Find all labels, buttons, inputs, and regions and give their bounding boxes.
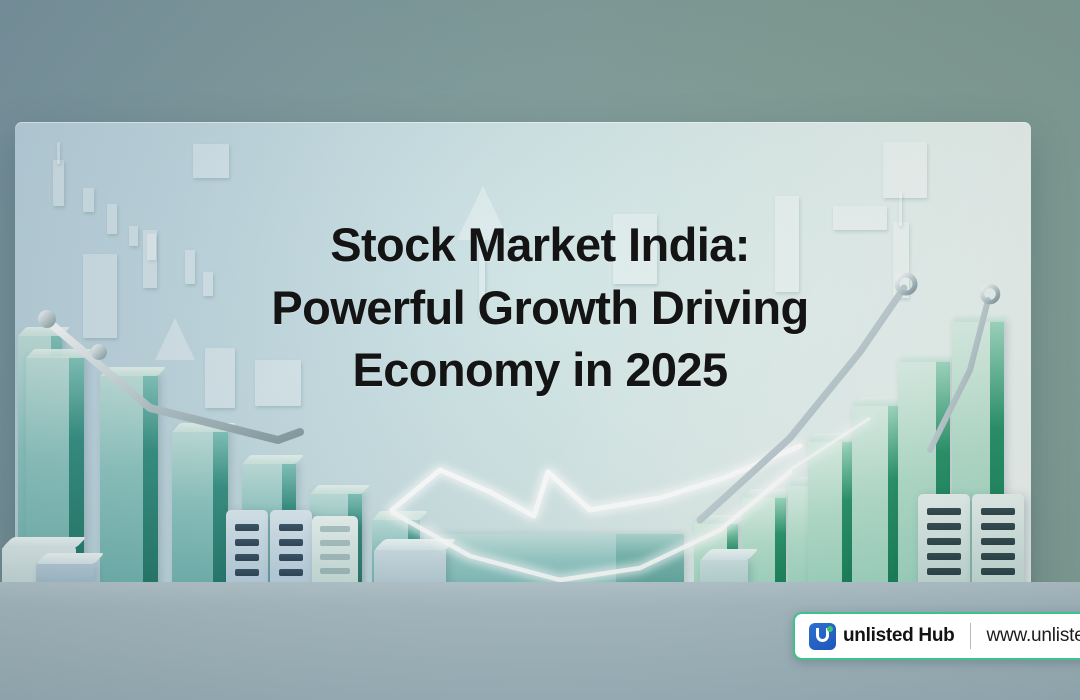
title-line-1: Stock Market India: xyxy=(0,214,1080,277)
bar-right-5 xyxy=(852,404,900,592)
title-line-2: Powerful Growth Driving xyxy=(0,277,1080,340)
brand-url[interactable]: www.unlistedhub xyxy=(986,625,1080,647)
brand-name: unlisted Hub xyxy=(843,625,954,647)
bar-right-4 xyxy=(808,440,854,592)
u-logo-icon xyxy=(809,623,836,650)
server-block-left-a xyxy=(226,510,268,592)
center-zigzag-line xyxy=(392,446,800,516)
brand-badge[interactable]: unlisted Hub www.unlistedhub xyxy=(793,612,1080,660)
building-left-windows xyxy=(312,516,358,592)
banner-stage: Stock Market India: Powerful Growth Driv… xyxy=(0,0,1080,700)
server-block-right-a xyxy=(918,494,970,592)
page-title: Stock Market India: Powerful Growth Driv… xyxy=(0,214,1080,402)
bar-left-4 xyxy=(172,430,228,592)
title-line-3: Economy in 2025 xyxy=(0,339,1080,402)
server-block-right-b xyxy=(972,494,1024,592)
badge-divider xyxy=(970,623,971,649)
server-block-left-b xyxy=(270,510,312,592)
bar-left-3 xyxy=(100,374,158,592)
bar-right-2 xyxy=(742,496,786,592)
